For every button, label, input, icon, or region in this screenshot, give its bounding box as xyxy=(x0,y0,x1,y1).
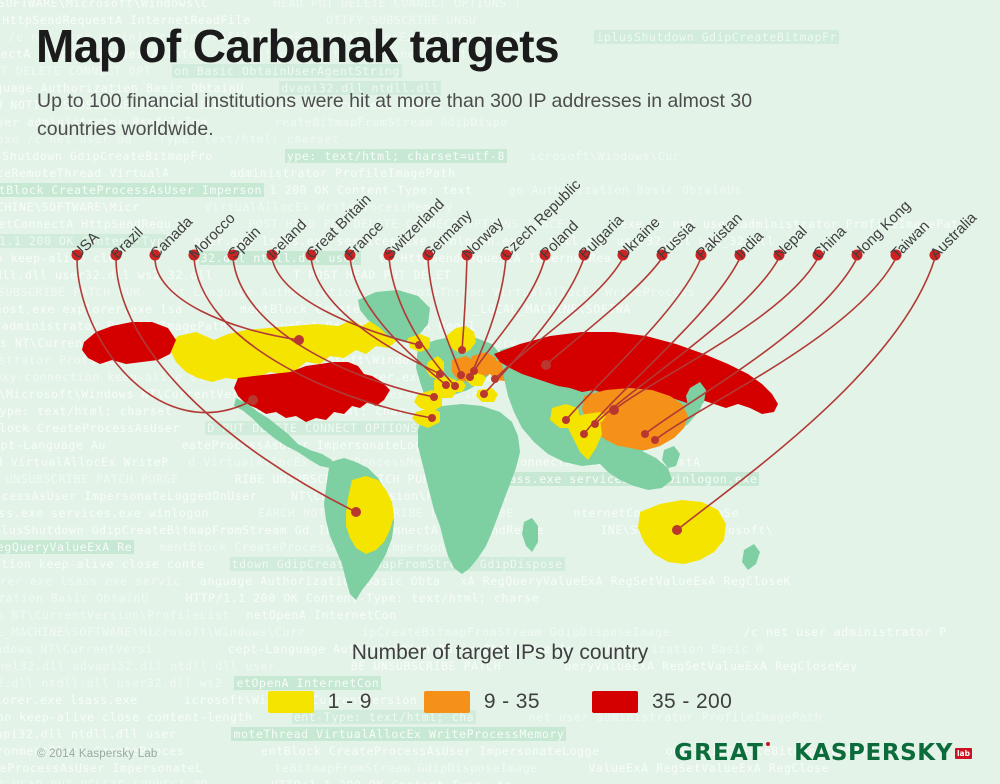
legend-label-1: 1 - 9 xyxy=(328,690,372,714)
background-code-line: etOpenA InternetCon xyxy=(234,676,381,690)
background-code-line: teBitmapFromStream GdipDisposeImage xyxy=(275,761,538,775)
landmass-africa xyxy=(418,404,520,574)
background-code-line: reateProcessAsUser ImpersonateL xyxy=(0,761,203,775)
background-code-line: HTTP/1.1 200 OK Content-Type: te xyxy=(271,778,512,784)
great-logo: GREAT xyxy=(674,740,764,766)
endpoint-germany xyxy=(457,371,465,379)
endpoint-brazil xyxy=(351,507,361,517)
legend-swatch-3 xyxy=(592,691,638,713)
endpoint-russia xyxy=(541,360,551,370)
country-label-list: USABrazilCanadaMoroccoSpainIcelandGreat … xyxy=(0,150,1000,280)
legend-item-2: 9 - 35 xyxy=(424,690,540,714)
background-code-line: api32.dll ntdll.dll user32.dll ws2 xyxy=(0,676,222,690)
endpoint-france xyxy=(442,381,450,389)
legend-label-2: 9 - 35 xyxy=(484,690,540,714)
endpoint-ukraine xyxy=(491,375,499,383)
endpoint-switzerland xyxy=(451,382,459,390)
background-code-line: dvapi32.dll ntdll.dll user xyxy=(0,727,176,741)
landmass-new-zealand xyxy=(742,544,760,570)
endpoint-spain xyxy=(430,393,438,401)
country-label-india: India xyxy=(732,227,767,262)
page-title: Map of Carbanak targets xyxy=(36,22,559,70)
endpoint-poland xyxy=(470,367,478,375)
background-code-highlight: etOpenA InternetCon xyxy=(234,676,381,690)
copyright: © 2014 Kaspersky Lab xyxy=(37,748,158,760)
map-landmasses xyxy=(0,290,1000,640)
logo-group: GREAT KASPERSKYlab xyxy=(674,740,972,766)
landmass-philippines xyxy=(662,446,680,468)
background-code-line: T POST HEAD PUT DELETE CONNECT OP xyxy=(0,778,208,784)
endpoint-iceland xyxy=(415,341,423,349)
landmass-madagascar xyxy=(522,518,538,552)
country-label-canada: Canada xyxy=(147,213,196,262)
endpoint-hong-kong xyxy=(641,430,649,438)
country-australia xyxy=(638,500,726,564)
background-code-highlight: moteThread VirtualAllocEx WriteProcessMe… xyxy=(231,727,566,741)
endpoint-usa xyxy=(248,395,258,405)
kaspersky-lab-badge: lab xyxy=(955,748,972,760)
legend-swatch-2 xyxy=(424,691,470,713)
page-subtitle: Up to 100 financial institutions were hi… xyxy=(37,88,817,143)
background-code-line: moteThread VirtualAllocEx WriteProcessMe… xyxy=(231,727,566,741)
background-code-highlight: iplusShutdown GdipCreateBitmapFr xyxy=(594,30,839,44)
endpoint-china xyxy=(609,405,619,415)
country-label-nepal: Nepal xyxy=(771,223,811,263)
legend-item-3: 35 - 200 xyxy=(592,690,732,714)
kaspersky-logo: KASPERSKYlab xyxy=(794,740,972,766)
country-label-usa: USA xyxy=(69,229,103,263)
endpoint-norway xyxy=(458,346,466,354)
endpoint-bulgaria xyxy=(480,390,488,398)
background-code-line: iplusShutdown GdipCreateBitmapFr xyxy=(594,30,839,44)
background-code-line: NE\SOFTWARE\Microsoft\Windows\C xyxy=(0,0,209,10)
great-logo-text: GREAT xyxy=(674,740,764,766)
endpoint-india xyxy=(580,430,588,438)
endpoint-taiwan xyxy=(651,436,659,444)
background-code-line: HEAD PUT DELETE CONNECT OPTIONS T xyxy=(273,0,521,10)
endpoint-great-britain xyxy=(436,370,444,378)
great-logo-dot-icon xyxy=(766,742,770,746)
kaspersky-logo-text: KASPERSKY xyxy=(794,740,953,766)
country-label-brazil: Brazil xyxy=(108,224,147,263)
background-code-line: entBlock CreateProcessAsUser Impersonate… xyxy=(261,744,600,758)
legend-label-3: 35 - 200 xyxy=(652,690,732,714)
legend: 1 - 99 - 3535 - 200 xyxy=(0,690,1000,714)
infographic-root: NE\SOFTWARE\Microsoft\Windows\C HEAD PUT… xyxy=(0,0,1000,784)
legend-title: Number of target IPs by country xyxy=(0,641,1000,665)
endpoint-nepal xyxy=(591,420,599,428)
country-label-china: China xyxy=(810,223,850,263)
legend-swatch-1 xyxy=(268,691,314,713)
landmass-southeast-asia xyxy=(598,446,672,490)
endpoint-morocco xyxy=(428,414,436,422)
endpoint-pakistan xyxy=(562,416,570,424)
country-label-iceland: Iceland xyxy=(264,216,310,262)
endpoint-canada xyxy=(294,335,304,345)
country-label-australia: Australia xyxy=(927,209,980,262)
endpoint-australia xyxy=(672,525,682,535)
country-usa-alaska xyxy=(82,322,176,364)
legend-item-1: 1 - 9 xyxy=(268,690,372,714)
